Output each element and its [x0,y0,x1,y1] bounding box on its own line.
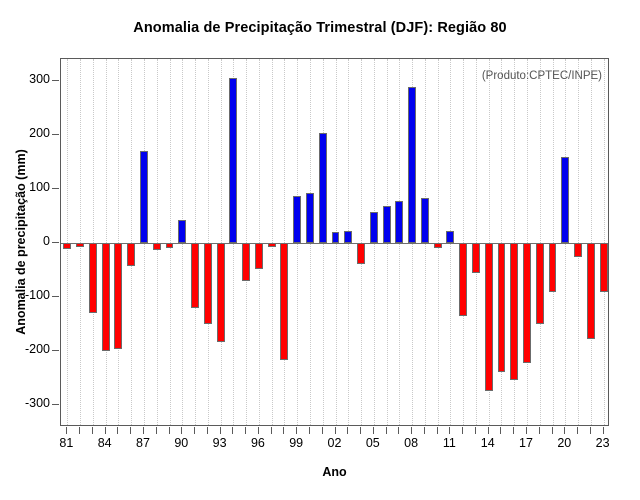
bar [408,87,416,243]
gridline-22 [591,59,592,425]
x-tick-label: 99 [276,437,316,450]
x-tick-label: 20 [544,437,584,450]
gridline-91 [195,59,196,425]
gridline-92 [208,59,209,425]
gridline-98 [284,59,285,425]
x-tick-label: 81 [46,437,86,450]
x-tick-mark [437,427,438,434]
bar [102,243,110,351]
gridline-84 [106,59,107,425]
bar [191,243,199,308]
x-tick-mark [194,427,195,434]
gridline-89 [170,59,171,425]
gridline-13 [476,59,477,425]
bar [306,193,314,243]
x-tick-mark [245,427,246,434]
plot-area: (Produto:CPTEC/INPE) [60,58,609,426]
x-tick-mark [143,427,144,434]
x-tick-mark [590,427,591,434]
x-tick-label: 96 [238,437,278,450]
gridline-12 [463,59,464,425]
bar [280,243,288,360]
y-tick-mark [52,404,59,405]
x-tick-label: 02 [315,437,355,450]
bar [459,243,467,316]
bar [498,243,506,372]
x-tick-mark [232,427,233,434]
bar [523,243,531,363]
x-tick-mark [309,427,310,434]
bar [574,243,582,257]
x-tick-mark [539,427,540,434]
x-tick-mark [322,427,323,434]
gridline-86 [131,59,132,425]
gridline-81 [67,59,68,425]
x-tick-label: 90 [161,437,201,450]
gridline-19 [553,59,554,425]
x-tick-mark [500,427,501,434]
x-tick-mark [526,427,527,434]
x-tick-mark [347,427,348,434]
y-tick-mark [52,296,59,297]
bar [357,243,365,264]
x-tick-mark [156,427,157,434]
bar [140,151,148,243]
x-tick-mark [398,427,399,434]
precipitation-anomaly-chart-figure: Anomalia de Precipitação Trimestral (DJF… [0,0,640,500]
bar [600,243,608,292]
x-tick-mark [181,427,182,434]
x-tick-mark [603,427,604,434]
bar [344,231,352,243]
y-tick-mark [52,134,59,135]
gridline-93 [221,59,222,425]
x-tick-label: 87 [123,437,163,450]
gridline-10 [438,59,439,425]
x-tick-label: 08 [391,437,431,450]
x-axis-label: Ano [60,465,609,479]
x-tick-mark [66,427,67,434]
x-tick-mark [449,427,450,434]
bar [114,243,122,349]
gridline-82 [80,59,81,425]
x-tick-label: 14 [468,437,508,450]
gridline-17 [527,59,528,425]
x-tick-mark [462,427,463,434]
y-tick-mark [52,188,59,189]
gridline-04 [361,59,362,425]
y-tick-mark [52,80,59,81]
bar [485,243,493,391]
gridline-88 [157,59,158,425]
chart-title: Anomalia de Precipitação Trimestral (DJF… [0,20,640,36]
x-tick-mark [552,427,553,434]
y-tick-mark [52,350,59,351]
x-tick-mark [220,427,221,434]
x-tick-mark [130,427,131,434]
gridline-95 [246,59,247,425]
x-tick-mark [335,427,336,434]
zero-baseline [61,243,608,244]
gridline-23 [604,59,605,425]
gridline-83 [93,59,94,425]
x-tick-mark [386,427,387,434]
x-tick-mark [411,427,412,434]
x-tick-label: 11 [429,437,469,450]
bar [536,243,544,324]
source-annotation: (Produto:CPTEC/INPE) [482,70,602,82]
gridline-85 [118,59,119,425]
x-tick-label: 84 [85,437,125,450]
bar [549,243,557,292]
bar [472,243,480,273]
bar [89,243,97,313]
bar [217,243,225,342]
x-tick-mark [564,427,565,434]
bar [421,198,429,243]
bar [370,212,378,243]
x-tick-mark [105,427,106,434]
bar [255,243,263,269]
x-tick-mark [373,427,374,434]
bar [383,206,391,243]
x-tick-mark [424,427,425,434]
x-tick-label: 23 [583,437,623,450]
bar [178,220,186,243]
x-tick-mark [488,427,489,434]
bar [395,201,403,243]
gridline-21 [578,59,579,425]
x-tick-mark [271,427,272,434]
bar [332,232,340,243]
x-tick-mark [360,427,361,434]
bar [153,243,161,250]
bar [127,243,135,266]
bar [561,157,569,243]
bar [446,231,454,243]
y-tick-mark [52,242,59,243]
x-tick-mark [169,427,170,434]
x-tick-mark [513,427,514,434]
x-tick-label: 93 [200,437,240,450]
bar [204,243,212,324]
x-tick-mark [207,427,208,434]
gridline-18 [540,59,541,425]
bar [229,78,237,243]
x-tick-label: 17 [506,437,546,450]
x-tick-mark [296,427,297,434]
x-tick-label: 05 [353,437,393,450]
y-axis-label: Anomalia de precipitação (mm) [14,58,28,426]
x-tick-mark [79,427,80,434]
bar [510,243,518,380]
x-tick-mark [475,427,476,434]
x-tick-mark [283,427,284,434]
bar [242,243,250,281]
x-tick-mark [92,427,93,434]
bar [293,196,301,243]
x-tick-mark [577,427,578,434]
x-tick-mark [117,427,118,434]
gridline-97 [272,59,273,425]
x-tick-mark [258,427,259,434]
gridline-96 [259,59,260,425]
bar [587,243,595,339]
bar [319,133,327,243]
